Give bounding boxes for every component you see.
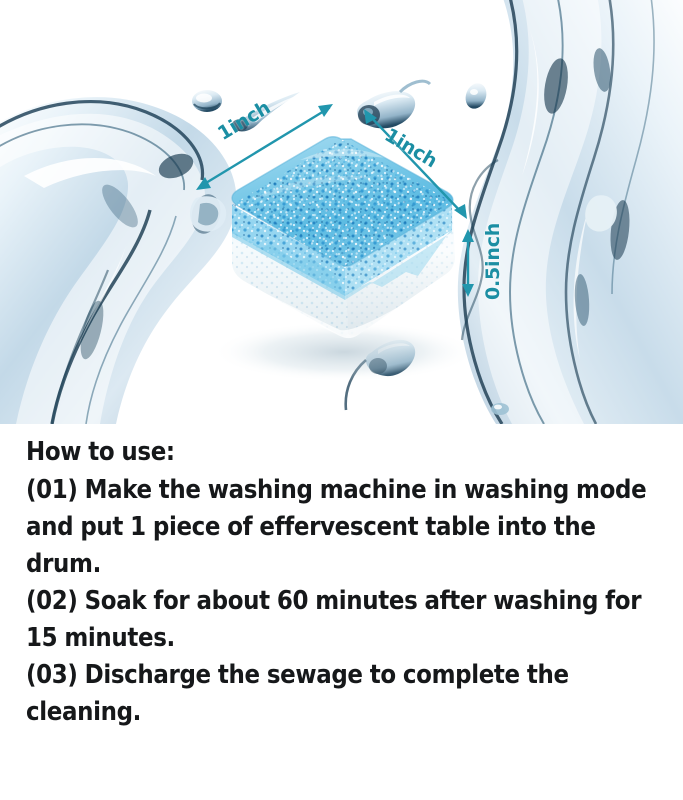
dimension-label-height: 0.5inch [482, 223, 504, 300]
instruction-step-03-line-2: cleaning. [26, 694, 661, 731]
instruction-step-02-line-2: 15 minutes. [26, 620, 661, 657]
product-infographic-page: 1inch 1inch 0.5inch How to use: (01) Mak… [0, 0, 683, 800]
droplet-tiny-bottom [491, 403, 509, 415]
instruction-step-03-line-1: (03) Discharge the sewage to complete th… [26, 657, 661, 694]
instruction-step-01-line-3: drum. [26, 546, 661, 583]
product-hero-image: 1inch 1inch 0.5inch [0, 0, 683, 424]
how-to-use-section: How to use: (01) Make the washing machin… [0, 424, 683, 800]
instruction-step-01-line-1: (01) Make the washing machine in washing… [26, 472, 661, 509]
instruction-step-02-line-1: (02) Soak for about 60 minutes after was… [26, 583, 661, 620]
how-to-use-heading: How to use: [26, 434, 661, 471]
water-splash-and-tablet-illustration [0, 0, 683, 424]
droplet-small-top [192, 90, 222, 112]
instruction-step-01-line-2: and put 1 piece of effervescent table in… [26, 509, 661, 546]
